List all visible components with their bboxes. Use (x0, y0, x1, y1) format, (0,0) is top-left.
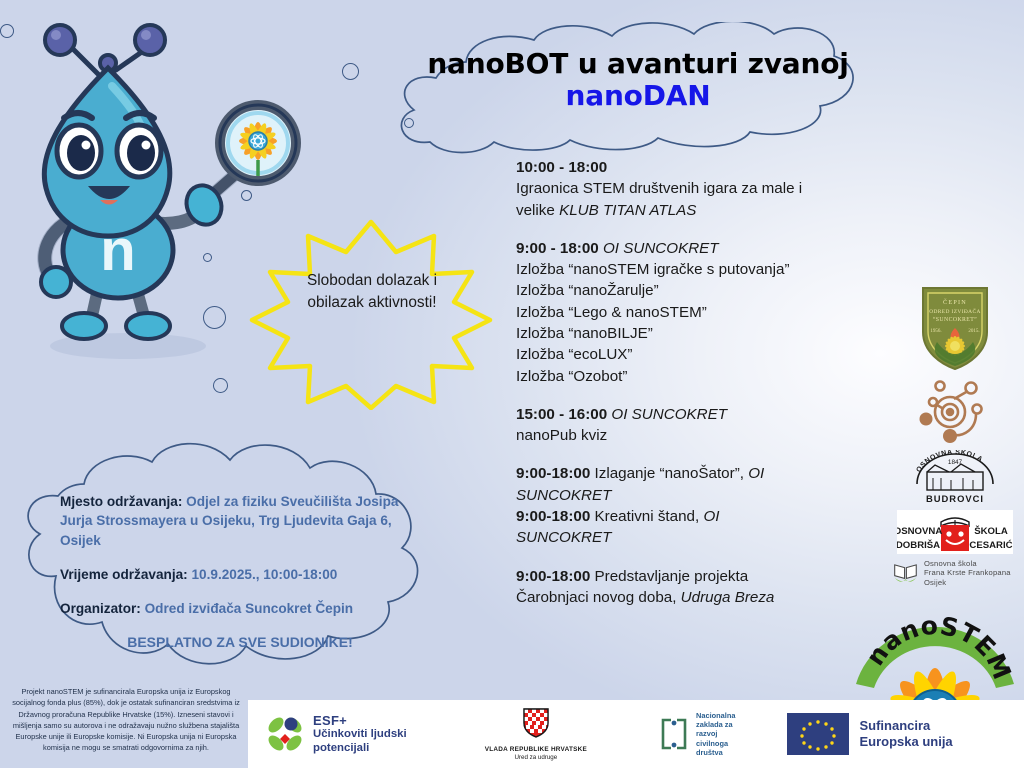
schedule-text: 10:00 - 18:00 (516, 159, 607, 176)
shield-year-right: 2015. (968, 329, 979, 334)
poster-title: nanoBOT u avanturi zvanoj nanoDAN (388, 48, 888, 112)
vlada-main-label: VLADA REPUBLIKE HRVATSKE (485, 746, 587, 754)
schedule-block: 9:00-18:00 Izlaganje “nanoŠator”, OISUNC… (516, 463, 876, 548)
schedule-line: nanoPub kviz (516, 425, 876, 446)
schedule-text: Izložba “nanoSTEM igračke s putovanja” (516, 261, 790, 278)
shield-year-left: 1956. (930, 329, 941, 334)
title-line-1: nanoBOT u avanturi zvanoj (388, 48, 888, 79)
schedule-line: 9:00-18:00 Predstavljanje projekta (516, 566, 876, 587)
footer-logo-band: ESF+ Učinkoviti ljudski potencijali (248, 700, 1024, 768)
schedule-text: 9:00 - 18:00 (516, 240, 603, 257)
schedule-list: 10:00 - 18:00Igraonica STEM društvenih i… (516, 157, 876, 608)
magnifier-icon (214, 105, 296, 193)
poster-canvas: n (0, 0, 1024, 768)
star-line-2: obilazak aktivnosti! (286, 292, 458, 314)
bubble-icon (203, 306, 226, 329)
schedule-text: Igraonica STEM društvenih igara za male … (516, 180, 802, 197)
info-time-label: Vrijeme održavanja (60, 567, 183, 582)
info-organizer-value: Odred izviđača Suncokret Čepin (145, 601, 354, 616)
schedule-line: Izložba “Ozobot” (516, 366, 876, 387)
vlada-sub-label: Ured za udruge (485, 754, 587, 762)
cesaric-word-2: DOBRIŠA (897, 539, 940, 551)
frankopana-line-2: Frana Krste Frankopana Osijek (924, 568, 1024, 587)
partner-logo-column: ČEPIN ODRED IZVIĐAČA “SUNCOKRET” 1956. 2… (886, 282, 1024, 590)
schedule-text: Izložba “nanoŽarulje” (516, 282, 659, 299)
logo-esf-plus: ESF+ Učinkoviti ljudski potencijali (264, 713, 407, 755)
schedule-block: 10:00 - 18:00Igraonica STEM društvenih i… (516, 157, 876, 221)
schedule-line: Čarobnjaci novog doba, Udruga Breza (516, 587, 876, 608)
nz-line-1: Nacionalna (696, 711, 735, 720)
info-venue: Mjesto održavanja: Odjel za fiziku Sveuč… (60, 492, 420, 550)
logo-os-dobrisa-cesaric: OSNOVNA DOBRIŠA ŠKOLA CESARIĆ (886, 508, 1024, 556)
logo-os-budrovci: OSNOVNA ŠKOLA 1847 BUDROVCI (886, 448, 1024, 508)
schedule-text: OI SUNCOKRET (611, 406, 727, 423)
schedule-text: 9:00-18:00 (516, 568, 595, 585)
cesaric-word-3: ŠKOLA (974, 525, 1008, 537)
info-time: Vrijeme održavanja: 10.9.2025., 10:00-18… (60, 565, 420, 584)
schedule-line: Izložba “nanoBILJE” (516, 323, 876, 344)
title-line-2: nanoDAN (388, 80, 888, 111)
mascot-body-letter: n (100, 218, 135, 283)
shield-text-mid1: ODRED IZVIĐAČA (929, 307, 981, 315)
schedule-text: Izlaganje “nanoŠator”, (595, 465, 749, 482)
schedule-line: Igraonica STEM društvenih igara za male … (516, 178, 876, 199)
info-free-notice: BESPLATNO ZA SVE SUDIONIKE! (60, 633, 420, 653)
logo-scout-shield: ČEPIN ODRED IZVIĐAČA “SUNCOKRET” 1956. 2… (886, 282, 1024, 374)
schedule-text: Kreativni štand, (595, 508, 704, 525)
logo-nacionalna-zaklada: Nacionalna zaklada za razvoj civilnoga d… (657, 711, 735, 756)
schedule-line: 10:00 - 18:00 (516, 157, 876, 178)
schedule-text: Udruga Breza (681, 589, 775, 606)
schedule-text: Izložba “ecoLUX” (516, 346, 633, 363)
eu-line-1: Sufinancira (859, 718, 952, 734)
info-time-value: 10.9.2025., 10:00-18:00 (191, 567, 337, 582)
nz-line-3: razvoj (696, 729, 735, 738)
croatian-coat-of-arms-icon (521, 706, 551, 738)
schedule-line: Izložba “Lego & nanoSTEM” (516, 302, 876, 323)
schedule-text: Predstavljanje projekta (595, 568, 749, 585)
esf-title: ESF+ (313, 713, 407, 728)
bubble-icon (213, 378, 228, 393)
nz-line-2: zaklada za (696, 720, 735, 729)
logo-os-frankopana: Osnovna škola Frana Krste Frankopana Osi… (886, 556, 1024, 590)
info-organizer: Organizator: Odred izviđača Suncokret Če… (60, 599, 420, 618)
logo-vlada-rh: VLADA REPUBLIKE HRVATSKE Ured za udruge (485, 706, 587, 762)
schedule-line: Izložba “nanoSTEM igračke s putovanja” (516, 259, 876, 280)
schedule-text: Izložba “Ozobot” (516, 368, 627, 385)
schedule-text: OI (703, 508, 719, 525)
footer-disclaimer: Projekt nanoSTEM je sufinancirala Europs… (4, 686, 248, 754)
eu-line-2: Europska unija (859, 734, 952, 750)
schedule-line: 9:00-18:00 Kreativni štand, OI (516, 506, 876, 527)
schedule-text: Čarobnjaci novog doba, (516, 589, 681, 606)
info-block: Mjesto održavanja: Odjel za fiziku Sveuč… (60, 492, 420, 653)
schedule-line: 9:00-18:00 Izlaganje “nanoŠator”, OI (516, 463, 876, 484)
cesaric-word-4: CESARIĆ (969, 539, 1012, 551)
nz-line-5: društva (696, 748, 735, 757)
open-book-icon (892, 560, 919, 586)
schedule-line: Izložba “nanoŽarulje” (516, 280, 876, 301)
shield-text-mid2: “SUNCOKRET” (933, 316, 977, 323)
schedule-line: SUNCOKRET (516, 485, 876, 506)
schedule-text: OI SUNCOKRET (603, 240, 719, 257)
schedule-block: 9:00-18:00 Predstavljanje projektaČarobn… (516, 566, 876, 609)
esf-sub-2: potencijali (313, 742, 407, 755)
schedule-text: KLUB TITAN ATLAS (559, 202, 696, 219)
logo-european-union: Sufinancira Europska unija (787, 713, 952, 755)
schedule-block: 9:00 - 18:00 OI SUNCOKRETIzložba “nanoST… (516, 238, 876, 387)
bubble-icon (342, 63, 359, 80)
bubble-icon (0, 24, 14, 38)
schedule-line: 15:00 - 16:00 OI SUNCOKRET (516, 404, 876, 425)
esf-sub-1: Učinkoviti ljudski (313, 728, 407, 741)
schedule-block: 15:00 - 16:00 OI SUNCOKRETnanoPub kviz (516, 404, 876, 447)
bubble-icon (203, 253, 212, 262)
star-line-1: Slobodan dolazak i (286, 270, 458, 292)
schedule-line: 9:00 - 18:00 OI SUNCOKRET (516, 238, 876, 259)
info-organizer-label: Organizator (60, 601, 136, 616)
esf-flower-icon (264, 713, 306, 755)
cesaric-word-1: OSNOVNA (897, 526, 942, 537)
brackets-icon (657, 714, 691, 754)
eu-flag-icon (787, 713, 849, 755)
logo-atom-network (886, 374, 1024, 448)
schedule-text: SUNCOKRET (516, 529, 611, 546)
frankopana-line-1: Osnovna škola (924, 559, 1024, 568)
bubble-icon (241, 190, 252, 201)
schedule-text: nanoPub kviz (516, 427, 607, 444)
schedule-text: 9:00-18:00 (516, 508, 595, 525)
schedule-text: velike (516, 202, 559, 219)
schedule-text: Izložba “nanoBILJE” (516, 325, 653, 342)
schedule-line: SUNCOKRET (516, 527, 876, 548)
schedule-text: Izložba “Lego & nanoSTEM” (516, 304, 707, 321)
schedule-text: OI (748, 465, 764, 482)
schedule-line: velike KLUB TITAN ATLAS (516, 200, 876, 221)
nz-line-4: civilnoga (696, 739, 735, 748)
budrovci-label: BUDROVCI (926, 493, 984, 504)
schedule-line: Izložba “ecoLUX” (516, 344, 876, 365)
star-callout-text: Slobodan dolazak i obilazak aktivnosti! (286, 270, 458, 315)
schedule-text: 9:00-18:00 (516, 465, 595, 482)
schedule-text: SUNCOKRET (516, 487, 611, 504)
shield-text-top: ČEPIN (943, 298, 967, 306)
info-venue-label: Mjesto održavanja (60, 494, 178, 509)
schedule-text: 15:00 - 16:00 (516, 406, 611, 423)
